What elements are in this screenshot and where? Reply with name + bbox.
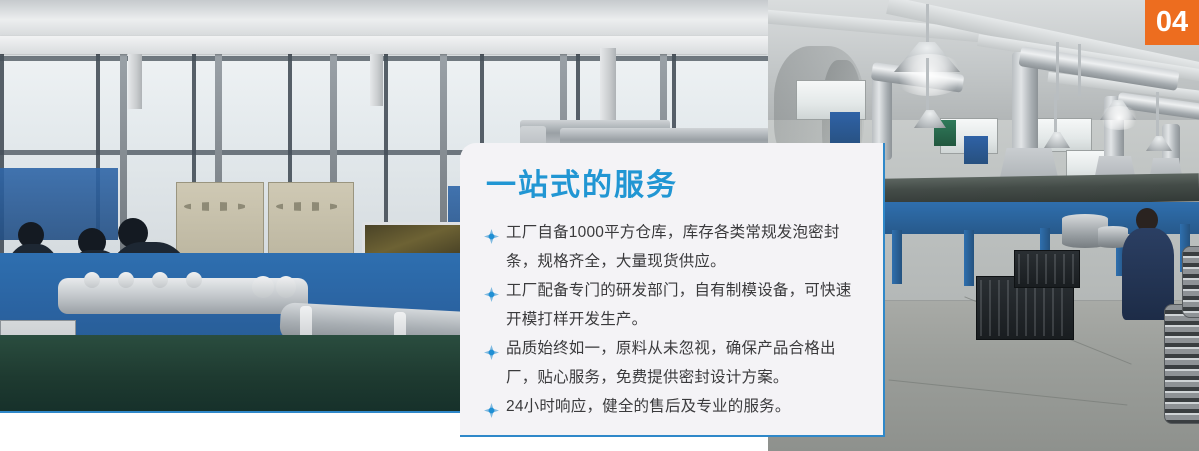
diamond-compass-bullet-icon — [484, 283, 499, 298]
window-blue-panel — [964, 136, 988, 164]
crate-slats — [980, 280, 1070, 336]
extruder-collar — [252, 276, 274, 298]
list-item: 24小时响应，健全的售后及专业的服务。 — [484, 392, 861, 421]
storage-crate — [1014, 250, 1080, 288]
lamp-glow — [892, 54, 966, 96]
list-item-text: 品质始终如一，原料从未忽视，确保产品合格出厂，贴心服务，免费提供密封设计方案。 — [506, 340, 836, 386]
wire-coil — [1164, 304, 1199, 424]
list-item-text: 工厂配备专门的研发部门，自有制模设备，可快速开模打样开发生产。 — [506, 282, 851, 328]
extruder-collar — [276, 276, 296, 298]
extruder-collar — [118, 272, 134, 288]
lamp-glow — [1098, 106, 1140, 130]
cabinet-knobs — [184, 202, 246, 211]
window-frame-bar — [0, 56, 768, 61]
diamond-compass-bullet-icon — [484, 341, 499, 356]
wire-coil — [1182, 246, 1199, 318]
card-title: 一站式的服务 — [486, 169, 861, 202]
ceiling-bracket — [128, 54, 142, 109]
lamp-rod — [926, 58, 929, 110]
list-item: 工厂自备1000平方仓库，库存各类常规发泡密封条，规格齐全，大量现货供应。 — [484, 218, 861, 276]
ceiling — [0, 0, 768, 36]
list-item: 品质始终如一，原料从未忽视，确保产品合格出厂，贴心服务，免费提供密封设计方案。 — [484, 334, 861, 392]
lamp-rod — [1056, 42, 1059, 100]
ceiling-beam — [0, 36, 768, 54]
crate-slats — [1018, 254, 1076, 284]
promo-banner: 04 一站式的服务 工厂自备1000平方仓库，库存各类常规发泡密封条，规格齐全，… — [0, 0, 1199, 451]
service-info-card: 一站式的服务 工厂自备1000平方仓库，库存各类常规发泡密封条，规格齐全，大量现… — [460, 143, 885, 437]
list-item: 工厂配备专门的研发部门，自有制模设备，可快速开模打样开发生产。 — [484, 276, 861, 334]
conveyor-leg — [964, 230, 974, 286]
diamond-compass-bullet-icon — [484, 399, 499, 414]
step-number-badge: 04 — [1145, 0, 1199, 45]
list-item-text: 工厂自备1000平方仓库，库存各类常规发泡密封条，规格齐全，大量现货供应。 — [506, 224, 840, 270]
diamond-compass-bullet-icon — [484, 225, 499, 240]
list-item-text: 24小时响应，健全的售后及专业的服务。 — [506, 398, 791, 415]
window-blue-panel — [0, 168, 118, 240]
extruder-collar — [186, 272, 202, 288]
extruder-collar — [84, 272, 100, 288]
service-bullet-list: 工厂自备1000平方仓库，库存各类常规发泡密封条，规格齐全，大量现货供应。 工厂… — [484, 218, 861, 421]
extruder-collar — [152, 272, 168, 288]
cabinet-knobs — [276, 202, 338, 211]
lamp-rod — [1078, 44, 1081, 96]
ceiling-bracket — [370, 54, 383, 106]
lamp-rod — [1054, 94, 1057, 134]
step-number-text: 04 — [1156, 8, 1188, 37]
conveyor-leg — [892, 230, 902, 284]
lamp-rod — [1156, 92, 1159, 138]
